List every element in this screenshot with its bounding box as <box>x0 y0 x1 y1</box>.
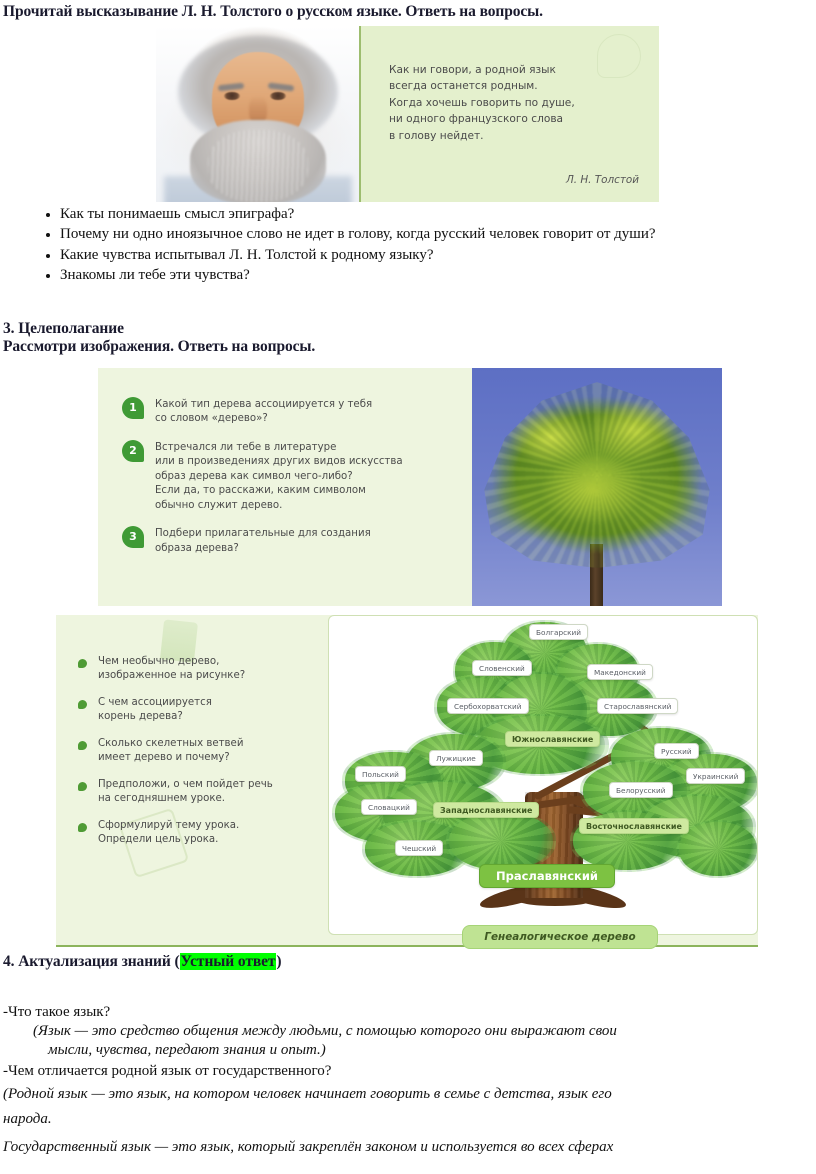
image-panel-genealogy: Чем необычно дерево, изображенное на рис… <box>56 615 758 935</box>
portrait-eye-right <box>270 92 286 100</box>
numbered-question-column: 1 Какой тип дерева ассоциируется у тебя … <box>98 368 472 606</box>
tree-label-staroslavyanskiy: Старославянский <box>597 698 678 714</box>
portrait-beard-texture <box>208 130 308 202</box>
tree-label-slovenskiy: Словенский <box>472 660 532 676</box>
tree-label-polskiy: Польский <box>355 766 406 782</box>
dialog-line: Государственный язык — это язык, который… <box>3 1138 815 1156</box>
bullet-question-text: С чем ассоциируется корень дерева? <box>98 696 212 725</box>
numbered-question-text: Встречался ли тебе в литературе или в пр… <box>155 439 403 513</box>
tree-label-russkiy: Русский <box>654 743 699 759</box>
tree-label-cheshskiy: Чешский <box>395 840 443 856</box>
tree-label-makedonskiy: Македонский <box>587 664 653 680</box>
tree-label-group-south: Южнославянские <box>505 731 600 747</box>
numbered-question-text: Какой тип дерева ассоциируется у тебя со… <box>155 396 372 427</box>
tree-label-serbohorvatskiy: Сербохорватский <box>447 698 529 714</box>
bullet-question-column: Чем необычно дерево, изображенное на рис… <box>56 615 328 935</box>
numbered-question-row: 1 Какой тип дерева ассоциируется у тебя … <box>122 396 462 427</box>
dialog-line: (Родной язык — это язык, на котором чело… <box>3 1085 811 1103</box>
bullet-question-row: Сформулируй тему урока. Определи цель ур… <box>78 819 318 848</box>
numbered-question-row: 2 Встречался ли тебе в литературе или в … <box>122 439 462 513</box>
list-item: Почему ни одно иноязычное слово не идет … <box>60 225 800 243</box>
epigraph-question-list: Как ты понимаешь смысл эпиграфа? Почему … <box>30 205 800 286</box>
bullet-dot-icon <box>78 700 87 709</box>
epigraph-block: Как ни говори, а родной язык всегда оста… <box>156 26 659 202</box>
tree-label-group-west: Западнославянские <box>433 802 539 818</box>
quote-card: Как ни говори, а родной язык всегда оста… <box>359 26 659 202</box>
bullet-question-text: Предположи, о чем пойдет речь на сегодня… <box>98 778 273 807</box>
bullet-question-text: Сформулируй тему урока. Определи цель ур… <box>98 819 239 848</box>
tree-label-group-east: Восточнославянские <box>579 818 689 834</box>
badge-number-1: 1 <box>122 397 144 419</box>
section4-suffix: ) <box>276 953 281 970</box>
image-panel-questions-tree: 1 Какой тип дерева ассоциируется у тебя … <box>98 368 722 606</box>
badge-number-3: 3 <box>122 526 144 548</box>
dialog-line: народа. <box>3 1110 811 1128</box>
numbered-question-text: Подбери прилагательные для создания обра… <box>155 525 371 556</box>
tree-foliage <box>679 822 757 876</box>
dialog-line: -Чем отличается родной язык от государст… <box>3 1062 803 1080</box>
section3-heading: 3. Целеполагание <box>3 320 124 338</box>
bullet-question-text: Чем необычно дерево, изображенное на рис… <box>98 655 245 684</box>
leaf-watermark-icon <box>597 34 641 78</box>
bullet-question-text: Сколько скелетных ветвей имеет дерево и … <box>98 737 243 766</box>
dialog-line: (Язык — это средство общения между людьм… <box>33 1022 808 1040</box>
tree-label-luzhickie: Лужицкие <box>429 750 483 766</box>
bullet-question-row: Предположи, о чем пойдет речь на сегодня… <box>78 778 318 807</box>
bullet-question-row: С чем ассоциируется корень дерева? <box>78 696 318 725</box>
bullet-dot-icon <box>78 782 87 791</box>
dialog-line: мысли, чувства, передают знания и опыт.) <box>48 1041 808 1059</box>
badge-number-2: 2 <box>122 440 144 462</box>
tolstoy-portrait-image <box>156 26 359 202</box>
tree-caption: Генеалогическое дерево <box>462 925 658 949</box>
quote-author: Л. Н. Толстой <box>566 174 639 186</box>
worksheet-page: Прочитай высказывание Л. Н. Толстого о р… <box>0 0 816 1174</box>
tree-label-belorusskiy: Белорусский <box>609 782 673 798</box>
page-title: Прочитай высказывание Л. Н. Толстого о р… <box>3 3 813 21</box>
numbered-question-row: 3 Подбери прилагательные для создания об… <box>122 525 462 556</box>
list-item: Какие чувства испытывал Л. Н. Толстой к … <box>60 246 800 264</box>
dialog-line: -Что такое язык? <box>3 1003 803 1021</box>
genealogical-tree-diagram: Болгарский Словенский Македонский Сербох… <box>328 615 758 935</box>
oak-photo <box>472 368 722 606</box>
bullet-question-row: Чем необычно дерево, изображенное на рис… <box>78 655 318 684</box>
section4-heading: 4. Актуализация знаний (Устный ответ) <box>3 953 281 971</box>
bullet-dot-icon <box>78 823 87 832</box>
tree-label-slovackiy: Словацкий <box>361 799 417 815</box>
tree-foliage <box>449 812 553 870</box>
bullet-question-row: Сколько скелетных ветвей имеет дерево и … <box>78 737 318 766</box>
tree-label-bolgarskiy: Болгарский <box>529 624 588 640</box>
bullet-dot-icon <box>78 659 87 668</box>
section4-prefix: 4. Актуализация знаний ( <box>3 953 180 970</box>
list-item: Как ты понимаешь смысл эпиграфа? <box>60 205 800 223</box>
list-item: Знакомы ли тебе эти чувства? <box>60 266 800 284</box>
status-badge-oral-answer: Устный ответ <box>180 953 277 970</box>
section3-subheading: Рассмотри изображения. Ответь на вопросы… <box>3 338 315 356</box>
bullet-dot-icon <box>78 741 87 750</box>
tree-label-ukrainskiy: Украинский <box>686 768 745 784</box>
tree-label-proto-slavic: Праславянский <box>479 864 615 888</box>
portrait-eye-left <box>224 92 240 100</box>
question-ul: Как ты понимаешь смысл эпиграфа? Почему … <box>30 205 800 284</box>
